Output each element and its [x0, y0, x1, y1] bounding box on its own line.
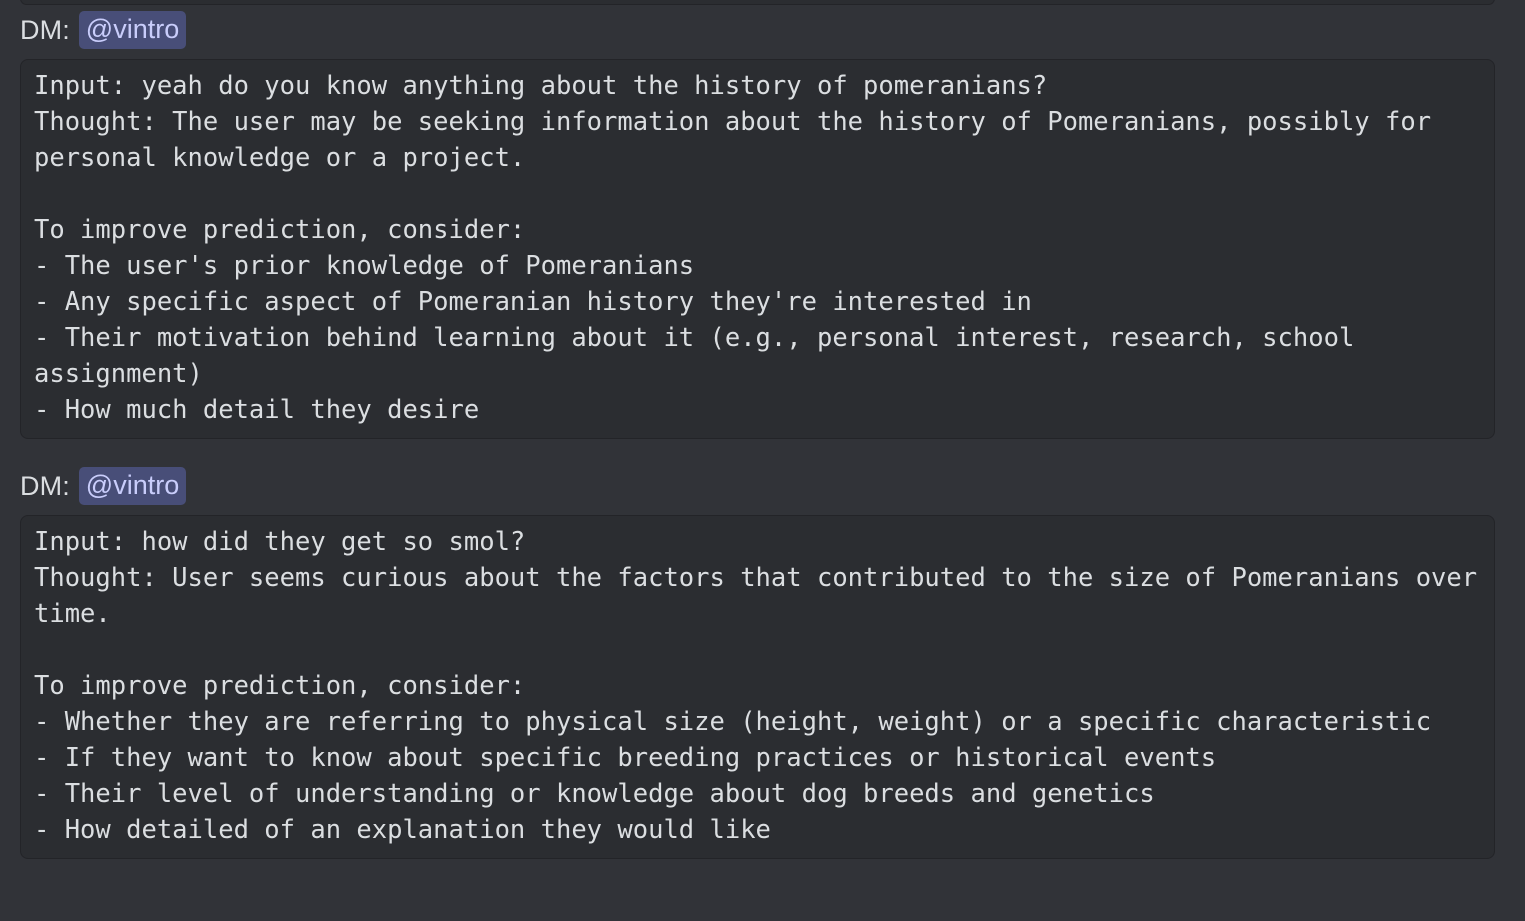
mention-vintro[interactable]: @vintro [79, 467, 186, 505]
code-block-1: Input: yeah do you know anything about t… [20, 59, 1495, 439]
mention-vintro[interactable]: @vintro [79, 11, 186, 49]
dm-label: DM: [20, 470, 70, 502]
code-block-previous-clipped [20, 0, 1495, 5]
chat-message-list[interactable]: DM: @vintro Input: yeah do you know anyt… [0, 0, 1525, 921]
code-block-2: Input: how did they get so smol? Thought… [20, 515, 1495, 859]
message-header-1: DM: @vintro [0, 7, 1525, 53]
message-header-2: DM: @vintro [0, 463, 1525, 509]
code-block-2-text: Input: how did they get so smol? Thought… [34, 524, 1482, 848]
dm-label: DM: [20, 14, 70, 46]
message-group-1: DM: @vintro Input: yeah do you know anyt… [0, 7, 1525, 439]
code-block-1-text: Input: yeah do you know anything about t… [34, 68, 1482, 428]
message-group-2: DM: @vintro Input: how did they get so s… [0, 463, 1525, 859]
